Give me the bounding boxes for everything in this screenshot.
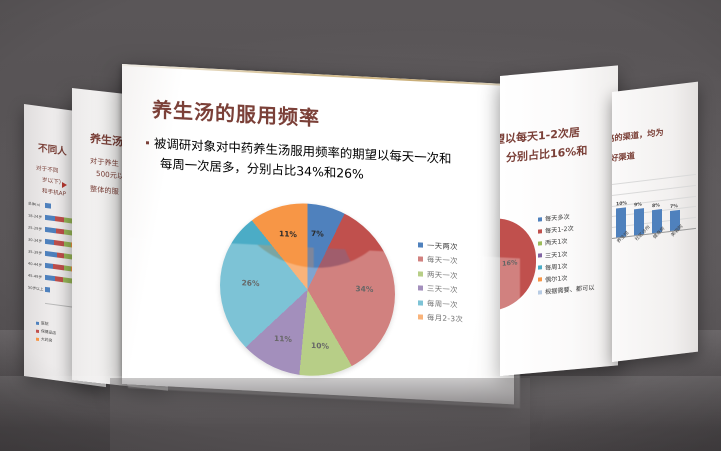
pie-slice-label: 11% — [279, 230, 297, 240]
stacked-bar-segment — [57, 252, 64, 258]
slide-far-right-title-line1: 最高的渠道，均为 — [612, 126, 664, 146]
pie-chart-legend: 一天两次每天一次两天一次三天一次每周一次每月2-3次 — [418, 239, 463, 328]
stacked-bar-segment — [45, 275, 55, 281]
pie-slice-label: 26% — [242, 278, 260, 288]
legend-item: 三天一次 — [418, 283, 463, 296]
legend-label: 每天一次 — [427, 254, 458, 267]
slide-far-right[interactable]: 最高的渠道，均为 偏好渠道 10%养生馆9%社区诊所8%健身房7%美容院 — [612, 82, 698, 362]
legend-label: 三天一次 — [427, 283, 458, 296]
pie-slice-label: 34% — [355, 284, 373, 294]
legend-label: 每月2-3次 — [427, 312, 463, 325]
stacked-bar-segment — [64, 217, 72, 223]
stacked-bar-segment — [53, 264, 64, 270]
gridline — [612, 185, 696, 198]
slide-far-right-title-line2: 偏好渠道 — [612, 149, 635, 165]
slide-near-left-bullet-2: 500元以 — [96, 169, 124, 182]
stacked-bar-segment — [45, 215, 55, 221]
legend-swatch — [418, 242, 423, 247]
legend-label: 每周一次 — [427, 297, 458, 310]
slide-behind-right-legend: 每天多次每天1-2次两天1次三天1次每周1次偶尔1次根据需要、都可以 — [538, 209, 595, 299]
stacked-bar-segment — [45, 227, 56, 233]
legend-swatch — [36, 337, 39, 340]
bar-category-label: 总体(n) — [28, 202, 40, 209]
legend-label: 保健品店 — [41, 328, 56, 336]
bar-category-label: 18-24岁 — [28, 214, 42, 221]
slide-main-bullet: 被调研对象对中药养生汤服用频率的期望以每天一次和 每周一次居多，分别占比34%和… — [146, 133, 496, 191]
legend-swatch — [418, 257, 423, 262]
slide-far-left-bullet-1: 对于不同 — [36, 164, 58, 175]
bar-category-label: 45-49岁 — [28, 274, 42, 281]
legend-label: 根据需要、都可以 — [545, 283, 595, 296]
legend-item: 根据需要、都可以 — [538, 283, 595, 297]
legend-item: 每周一次 — [418, 297, 463, 310]
stacked-bar-segment — [45, 263, 53, 269]
legend-swatch — [418, 286, 423, 291]
bar-value-label: 8% — [652, 203, 660, 209]
bullet-dot-icon — [146, 141, 149, 144]
legend-swatch — [418, 271, 423, 276]
slide-near-left-title: 养生汤 — [90, 130, 123, 150]
stacked-bar-segment — [55, 216, 64, 222]
slide-main[interactable]: 养生汤的服用频率 被调研对象对中药养生汤服用频率的期望以每天一次和 每周一次居多… — [122, 64, 514, 404]
legend-item: 两天一次 — [418, 268, 463, 281]
legend-swatch — [538, 265, 542, 269]
legend-item: 每天一次 — [418, 254, 463, 267]
gridline — [612, 174, 696, 187]
stacked-bar-segment — [45, 203, 51, 209]
page-title: 养生汤的服用频率 — [152, 94, 320, 132]
legend-swatch — [36, 329, 39, 332]
slide-far-left-title: 不同人 — [38, 140, 67, 158]
pie-slice-label: 10% — [311, 340, 329, 350]
legend-label: 每周1次 — [545, 261, 568, 272]
legend-item: 每月2-3次 — [418, 311, 463, 324]
legend-label: 偶尔1次 — [545, 273, 568, 284]
legend-label: 每天多次 — [545, 212, 570, 223]
slide-far-left-legend: 医院 保健品店 大药房 — [36, 320, 56, 347]
legend-label: 两天一次 — [427, 269, 458, 282]
legend-swatch — [538, 229, 542, 233]
slide-far-left-bullet-3: 和手机AP — [42, 186, 66, 197]
legend-swatch — [36, 321, 39, 324]
slide-behind-right-title-line2: 分别占比16%和 — [506, 142, 587, 165]
slide-top-edge — [122, 64, 514, 86]
legend-swatch — [538, 217, 542, 221]
pie-slice-label: 11% — [274, 334, 292, 344]
bar-category-label: 30-34岁 — [28, 238, 42, 245]
slide-near-left-bullet-3: 整体的服 — [90, 184, 119, 197]
legend-item: 一天两次 — [418, 239, 463, 252]
legend-label: 三天1次 — [545, 248, 568, 259]
stacked-bar-segment — [56, 228, 64, 234]
stacked-bar-segment — [55, 276, 63, 282]
stacked-bar-segment — [54, 240, 64, 246]
legend-item: 大药房 — [36, 336, 56, 345]
pie-slice-label: 16% — [502, 258, 518, 267]
legend-swatch — [538, 241, 542, 245]
bar-category-label: 50岁以上 — [28, 286, 43, 293]
legend-label: 每天1-2次 — [545, 224, 574, 236]
legend-label: 医院 — [41, 320, 49, 327]
play-arrow-icon-small — [62, 182, 67, 188]
legend-label: 大药房 — [41, 336, 52, 344]
bar-category-label: 35-39岁 — [28, 250, 42, 257]
slide-behind-right[interactable]: 望以每天1-2次居 分别占比16%和 16% 每天多次每天1-2次两天1次三天1… — [500, 65, 618, 376]
bar-category-label: 40-44岁 — [28, 262, 42, 269]
bar-value-label: 7% — [670, 204, 678, 210]
stacked-bar-segment — [45, 287, 50, 293]
stacked-bar-segment — [64, 241, 71, 247]
bar-value-label: 9% — [634, 203, 642, 209]
legend-label: 两天1次 — [545, 236, 568, 247]
legend-swatch — [418, 314, 423, 319]
bar-category-label: 25-29岁 — [28, 226, 42, 233]
pie-slice-label: 7% — [311, 229, 324, 239]
bar-chart: 10%养生馆9%社区诊所8%健身房7%美容院 — [612, 164, 696, 254]
stacked-bar-segment — [45, 239, 54, 245]
legend-swatch — [418, 300, 423, 305]
legend-swatch — [538, 253, 542, 257]
pie-chart: 7%34%10%11%26%11% — [220, 199, 395, 380]
slide-carousel-stage: 不同人 对于不同 岁以下） 和手机AP 总体(n)18-24岁25-29岁30-… — [0, 0, 721, 451]
stacked-bar-segment — [45, 251, 57, 258]
stacked-bar-segment — [64, 265, 71, 271]
legend-swatch — [538, 290, 542, 294]
legend-swatch — [538, 278, 542, 282]
legend-label: 一天两次 — [427, 240, 458, 253]
slide-near-left-bullet-1: 对于养生 — [90, 156, 119, 169]
